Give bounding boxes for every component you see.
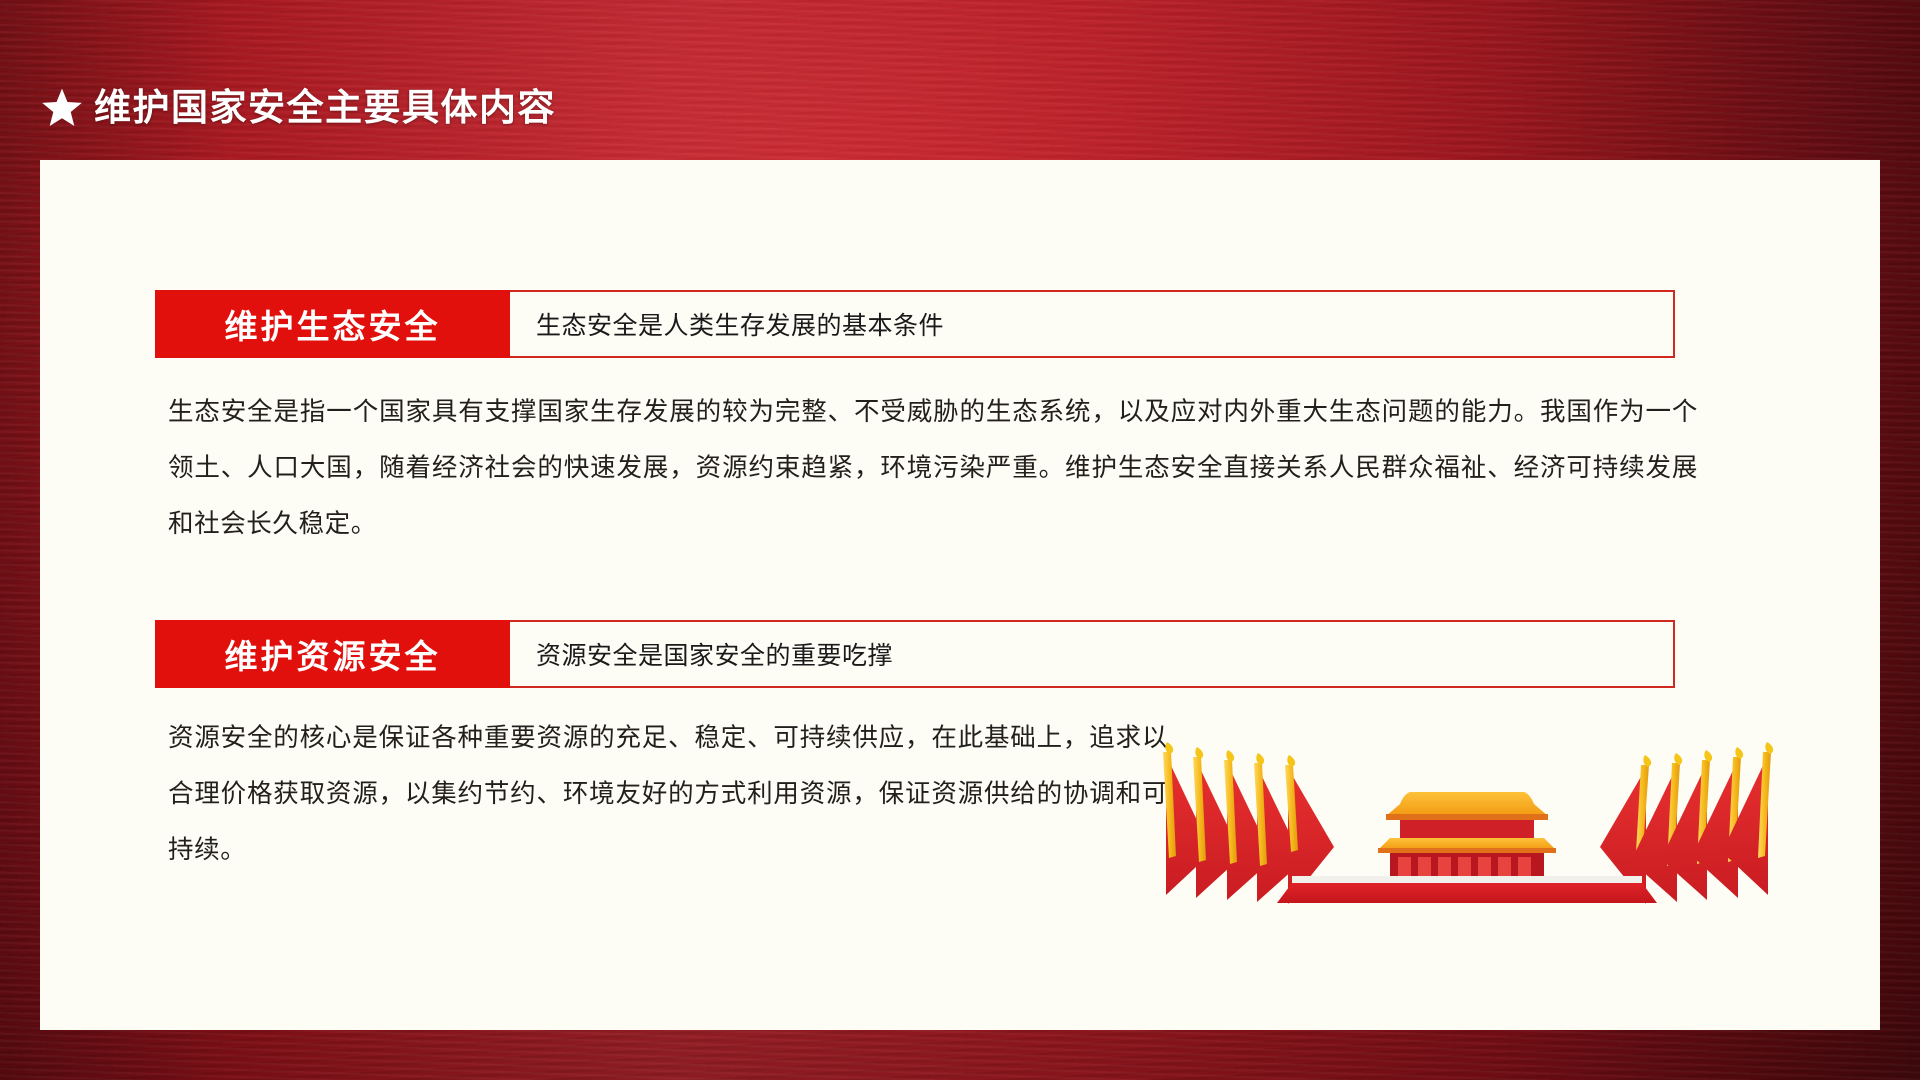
tiananmen-gate xyxy=(1378,792,1556,879)
star-icon xyxy=(40,86,84,130)
section-subtitle-ecological: 生态安全是人类生存发展的基本条件 xyxy=(510,290,1675,358)
section-header-ecological: 维护生态安全 生态安全是人类生存发展的基本条件 xyxy=(155,290,1675,358)
section-header-resource: 维护资源安全 资源安全是国家安全的重要吃撑 xyxy=(155,620,1675,688)
paragraph-resource: 资源安全的核心是保证各种重要资源的充足、稳定、可持续供应，在此基础上，追求以合理… xyxy=(168,710,1168,878)
section-ecological-security: 维护生态安全 生态安全是人类生存发展的基本条件 生态安全是指一个国家具有支撑国家… xyxy=(40,290,1880,552)
slide-root: 维护国家安全主要具体内容 维护生态安全 生态安全是人类生存发展的基本条件 生态安… xyxy=(0,0,1920,1080)
content-card: 维护生态安全 生态安全是人类生存发展的基本条件 生态安全是指一个国家具有支撑国家… xyxy=(40,160,1880,1030)
section-badge-resource: 维护资源安全 xyxy=(155,620,510,688)
section-body-ecological: 生态安全是指一个国家具有支撑国家生存发展的较为完整、不受威胁的生态系统，以及应对… xyxy=(168,384,1698,552)
tiananmen-illustration xyxy=(1152,730,1782,905)
section-badge-ecological: 维护生态安全 xyxy=(155,290,510,358)
section-body-resource: 资源安全的核心是保证各种重要资源的充足、稳定、可持续供应，在此基础上，追求以合理… xyxy=(168,710,1168,878)
tiananmen-platform xyxy=(1277,876,1657,903)
section-subtitle-resource: 资源安全是国家安全的重要吃撑 xyxy=(510,620,1675,688)
page-header: 维护国家安全主要具体内容 xyxy=(40,84,556,130)
paragraph-ecological: 生态安全是指一个国家具有支撑国家生存发展的较为完整、不受威胁的生态系统，以及应对… xyxy=(168,384,1698,552)
page-title: 维护国家安全主要具体内容 xyxy=(94,89,556,126)
